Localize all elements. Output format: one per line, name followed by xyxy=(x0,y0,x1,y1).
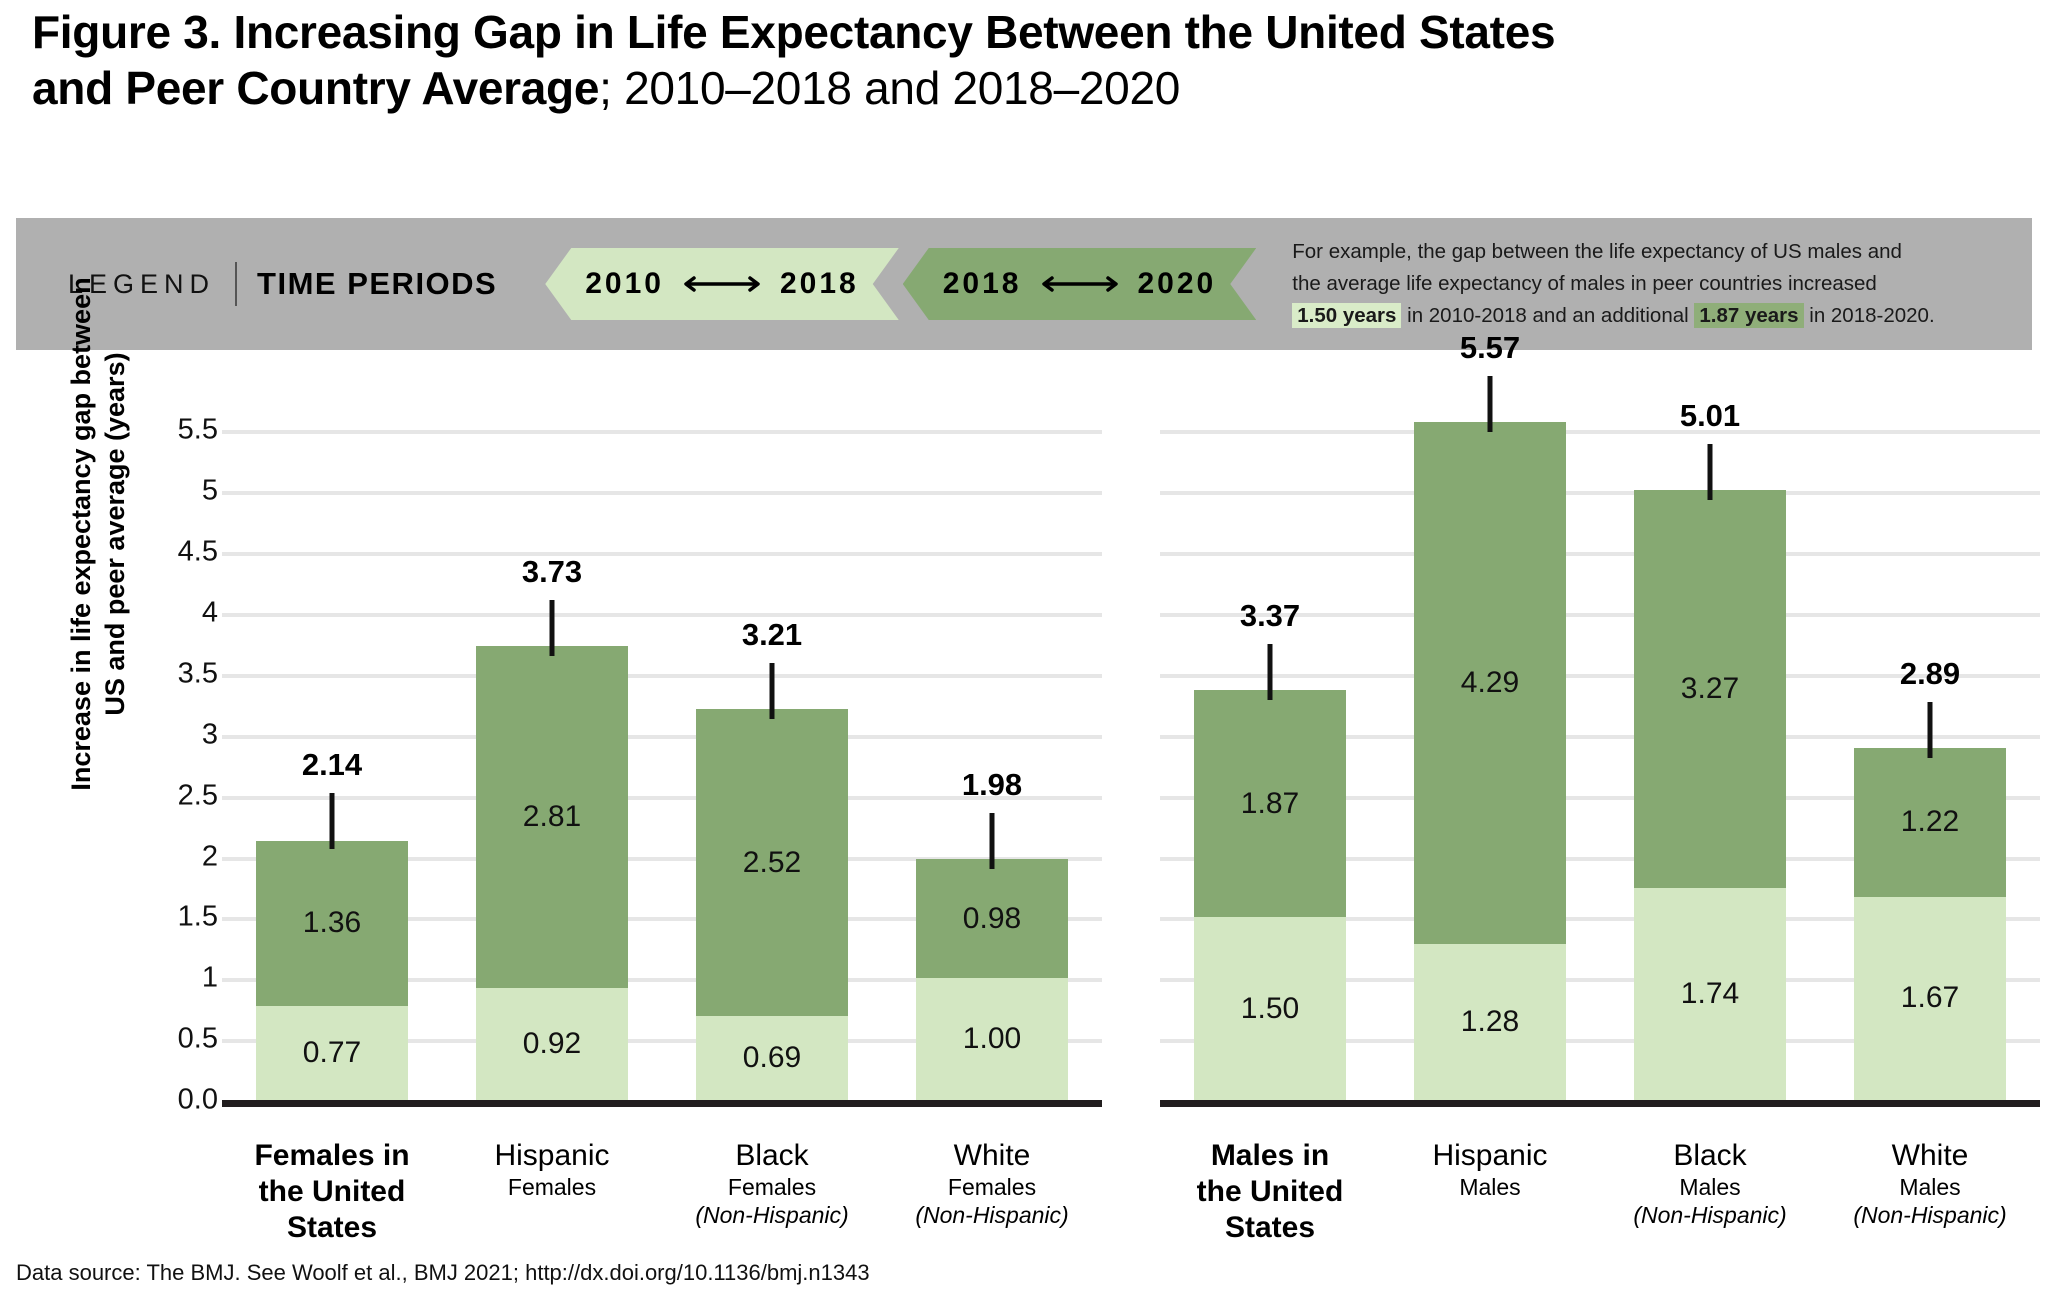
total-leader-tick xyxy=(1488,376,1493,432)
title-bold-2: and Peer Country Average xyxy=(32,62,599,114)
legend-note-mid: in 2010-2018 and an additional xyxy=(1401,304,1694,327)
y-axis-ticks: 5.554.543.532.521.510.50.0 xyxy=(130,400,218,1100)
bar-slot: 0.981.001.98 xyxy=(882,400,1102,1100)
bar-segment-2018-2020[interactable]: 2.52 xyxy=(696,709,848,1016)
bar-segment-2010-2018[interactable]: 1.28 xyxy=(1414,944,1566,1100)
total-leader-tick xyxy=(990,813,995,869)
double-arrow-icon xyxy=(680,275,764,293)
y-tick-label: 3.5 xyxy=(130,657,218,690)
total-leader-tick xyxy=(550,600,555,656)
y-tick-label: 3 xyxy=(130,718,218,751)
y-tick-label: 2.5 xyxy=(130,779,218,812)
y-tick-label: 1.5 xyxy=(130,901,218,934)
x-labels-females: Females inthe United StatesHispanicFemal… xyxy=(222,1138,1102,1258)
double-arrow-icon xyxy=(1038,275,1122,293)
legend-chip-2010-2018[interactable]: 2010 2018 xyxy=(545,248,899,320)
x-label-line-3: (Non-Hispanic) xyxy=(1820,1202,2040,1230)
x-label-cell: BlackMales(Non-Hispanic) xyxy=(1600,1138,1820,1258)
bar-segment-2018-2020[interactable]: 4.29 xyxy=(1414,422,1566,944)
x-label-line-1: Hispanic xyxy=(442,1138,662,1174)
legend-band: LEGEND TIME PERIODS 2010 2018 2018 xyxy=(16,218,2032,350)
x-label-cell: Females inthe United States xyxy=(222,1138,442,1258)
x-label-line-1: Females in xyxy=(222,1138,442,1174)
y-tick-label: 4 xyxy=(130,597,218,630)
bar-segment-2018-2020[interactable]: 1.36 xyxy=(256,841,408,1007)
bar-slot: 1.360.772.14 xyxy=(222,400,442,1100)
x-label-line-1: Hispanic xyxy=(1380,1138,1600,1174)
bar-segment-2018-2020[interactable]: 2.81 xyxy=(476,646,628,988)
bar-total-label: 2.14 xyxy=(302,747,362,783)
legend-divider xyxy=(235,262,237,306)
y-tick-label: 2 xyxy=(130,840,218,873)
plot-area: 5.554.543.532.521.510.50.0 1.360.772.142… xyxy=(0,400,2048,1130)
bar-slot: 1.871.503.37 xyxy=(1160,400,1380,1100)
bar-segment-2018-2020[interactable]: 0.98 xyxy=(916,859,1068,978)
x-label-cell: WhiteMales(Non-Hispanic) xyxy=(1820,1138,2040,1258)
x-label-line-2: the United States xyxy=(1160,1174,1380,1246)
x-label-line-3: (Non-Hispanic) xyxy=(882,1202,1102,1230)
legend-note-line-2: the average life expectancy of males in … xyxy=(1292,268,1934,300)
x-label-line-3: (Non-Hispanic) xyxy=(662,1202,882,1230)
bar-slot: 3.271.745.01 xyxy=(1600,400,1820,1100)
x-axis-line xyxy=(1160,1100,2040,1107)
page-title: Figure 3. Increasing Gap in Life Expecta… xyxy=(32,4,2012,116)
total-leader-tick xyxy=(1268,644,1273,700)
x-label-cell: HispanicMales xyxy=(1380,1138,1600,1258)
legend-heading: TIME PERIODS xyxy=(257,266,497,302)
bar-slot: 2.520.693.21 xyxy=(662,400,882,1100)
x-label-cell: Males inthe United States xyxy=(1160,1138,1380,1258)
stacked-bar[interactable]: 1.360.772.14 xyxy=(256,839,408,1100)
x-label-line-2: the United States xyxy=(222,1174,442,1246)
bar-total-label: 1.98 xyxy=(962,767,1022,803)
bar-total-label: 3.21 xyxy=(742,617,802,653)
figure-root: Figure 3. Increasing Gap in Life Expecta… xyxy=(0,0,2048,1308)
y-tick-label: 4.5 xyxy=(130,536,218,569)
bar-slot: 4.291.285.57 xyxy=(1380,400,1600,1100)
legend-chevrons: 2010 2018 2018 2 xyxy=(545,248,1256,320)
legend-note-line-1: For example, the gap between the life ex… xyxy=(1292,236,1934,268)
bar-total-label: 5.57 xyxy=(1460,330,1520,366)
y-tick-label: 5.5 xyxy=(130,414,218,447)
x-label-line-2: Females xyxy=(662,1174,882,1202)
bar-total-label: 5.01 xyxy=(1680,398,1740,434)
bar-total-label: 3.73 xyxy=(522,554,582,590)
bar-segment-2010-2018[interactable]: 0.69 xyxy=(696,1016,848,1100)
x-label-line-3: (Non-Hispanic) xyxy=(1600,1202,1820,1230)
chip-light-end: 2018 xyxy=(780,267,859,301)
bar-total-label: 3.37 xyxy=(1240,598,1300,634)
x-label-line-1: Males in xyxy=(1160,1138,1380,1174)
x-axis-line xyxy=(222,1100,1102,1107)
chip-light-start: 2010 xyxy=(585,267,664,301)
bar-segment-2010-2018[interactable]: 0.92 xyxy=(476,988,628,1100)
x-label-line-1: White xyxy=(1820,1138,2040,1174)
stacked-bar[interactable]: 0.981.001.98 xyxy=(916,859,1068,1100)
stacked-bar[interactable]: 1.221.672.89 xyxy=(1854,748,2006,1100)
y-tick-label: 0.5 xyxy=(130,1023,218,1056)
y-tick-label: 1 xyxy=(130,962,218,995)
stacked-bar[interactable]: 3.271.745.01 xyxy=(1634,490,1786,1100)
bar-segment-2010-2018[interactable]: 1.74 xyxy=(1634,888,1786,1100)
bar-segment-2010-2018[interactable]: 1.00 xyxy=(916,978,1068,1100)
bar-group-males: 1.871.503.374.291.285.573.271.745.011.22… xyxy=(1160,400,2040,1100)
x-labels-males: Males inthe United StatesHispanicMalesBl… xyxy=(1160,1138,2040,1258)
panel-males: 1.871.503.374.291.285.573.271.745.011.22… xyxy=(1160,400,2040,1100)
title-bold-1: Figure 3. Increasing Gap in Life Expecta… xyxy=(32,6,1555,58)
bar-segment-2018-2020[interactable]: 3.27 xyxy=(1634,490,1786,888)
x-label-line-1: White xyxy=(882,1138,1102,1174)
total-leader-tick xyxy=(330,793,335,849)
total-leader-tick xyxy=(770,663,775,719)
bar-total-label: 2.89 xyxy=(1900,656,1960,692)
bar-segment-2018-2020[interactable]: 1.22 xyxy=(1854,748,2006,897)
bar-segment-2018-2020[interactable]: 1.87 xyxy=(1194,690,1346,918)
legend-note-line-3: 1.50 years in 2010-2018 and an additiona… xyxy=(1292,300,1934,332)
total-leader-tick xyxy=(1708,444,1713,500)
chip-dark-start: 2018 xyxy=(943,267,1022,301)
data-source-note: Data source: The BMJ. See Woolf et al., … xyxy=(16,1260,870,1286)
title-line-2: and Peer Country Average; 2010–2018 and … xyxy=(32,60,2012,116)
legend-explanation: For example, the gap between the life ex… xyxy=(1292,236,1934,331)
title-line-1: Figure 3. Increasing Gap in Life Expecta… xyxy=(32,4,2012,60)
x-label-line-2: Females xyxy=(442,1174,662,1202)
bar-slot: 1.221.672.89 xyxy=(1820,400,2040,1100)
stacked-bar[interactable]: 2.810.923.73 xyxy=(476,646,628,1100)
x-label-line-2: Males xyxy=(1820,1174,2040,1202)
x-label-cell: WhiteFemales(Non-Hispanic) xyxy=(882,1138,1102,1258)
chip-dark-end: 2020 xyxy=(1138,267,1217,301)
panel-females: 1.360.772.142.810.923.732.520.693.210.98… xyxy=(222,400,1102,1100)
stacked-bar[interactable]: 2.520.693.21 xyxy=(696,709,848,1100)
bar-segment-2010-2018[interactable]: 1.50 xyxy=(1194,917,1346,1100)
x-label-line-2: Males xyxy=(1380,1174,1600,1202)
y-tick-label: 5 xyxy=(130,475,218,508)
bar-group-females: 1.360.772.142.810.923.732.520.693.210.98… xyxy=(222,400,1102,1100)
bar-segment-2010-2018[interactable]: 1.67 xyxy=(1854,897,2006,1100)
legend-note-end: in 2018-2020. xyxy=(1804,304,1935,327)
total-leader-tick xyxy=(1928,702,1933,758)
bar-segment-2010-2018[interactable]: 0.77 xyxy=(256,1006,408,1100)
bar-slot: 2.810.923.73 xyxy=(442,400,662,1100)
legend-highlight-1: 1.50 years xyxy=(1292,303,1401,328)
x-label-line-2: Males xyxy=(1600,1174,1820,1202)
x-label-line-1: Black xyxy=(1600,1138,1820,1174)
x-label-cell: BlackFemales(Non-Hispanic) xyxy=(662,1138,882,1258)
x-label-line-1: Black xyxy=(662,1138,882,1174)
title-subtitle: ; 2010–2018 and 2018–2020 xyxy=(599,62,1180,114)
stacked-bar[interactable]: 1.871.503.37 xyxy=(1194,690,1346,1100)
legend-highlight-2: 1.87 years xyxy=(1694,303,1803,328)
x-axis-labels: Females inthe United StatesHispanicFemal… xyxy=(0,1138,2048,1258)
x-label-cell: HispanicFemales xyxy=(442,1138,662,1258)
legend-chip-2018-2020[interactable]: 2018 2020 xyxy=(903,248,1257,320)
stacked-bar[interactable]: 4.291.285.57 xyxy=(1414,422,1566,1100)
y-tick-label: 0.0 xyxy=(130,1084,218,1117)
x-label-line-2: Females xyxy=(882,1174,1102,1202)
